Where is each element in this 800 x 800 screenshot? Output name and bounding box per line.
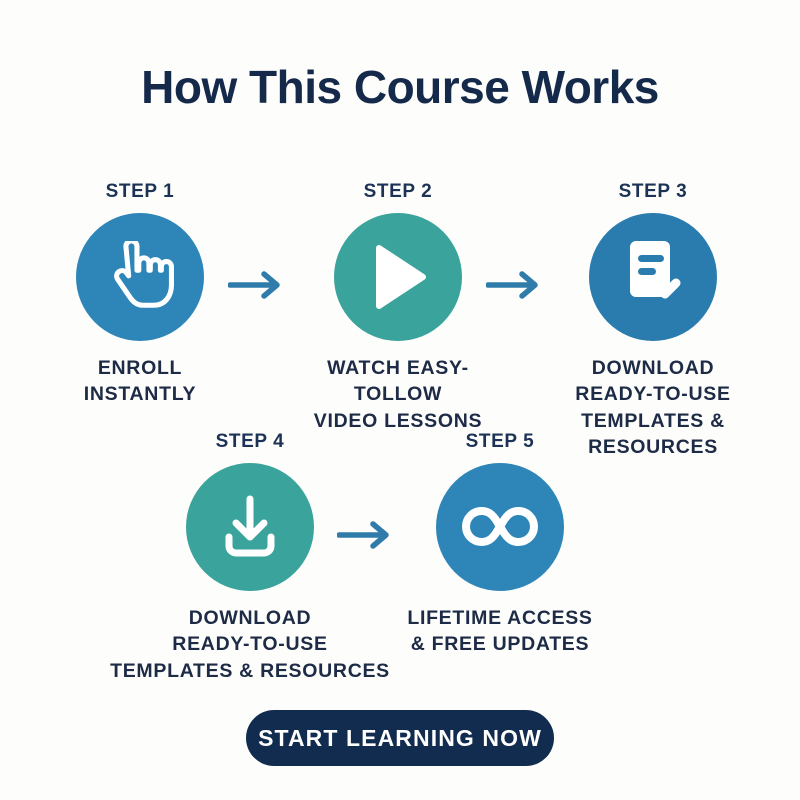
start-learning-now-button[interactable]: START LEARNING NOW (246, 710, 554, 766)
step-card-2: STEP 2 WATCH EASY-TOLLOW VIDEO LESSONS (293, 182, 503, 434)
step-5-caption: LIFETIME ACCESS & FREE UPDATES (375, 605, 625, 658)
document-download-icon (618, 239, 688, 315)
arrow-step1-to-step2 (228, 268, 288, 307)
step-1-icon-circle (76, 213, 204, 341)
step-5-label: STEP 5 (395, 432, 605, 451)
step-card-3: STEP 3 DOWNLOAD READY-TO-USE TEMPLATES &… (548, 182, 758, 460)
step-5-icon-circle (436, 463, 564, 591)
step-2-caption: WATCH EASY-TOLLOW VIDEO LESSONS (293, 355, 503, 434)
step-2-icon-circle (334, 213, 462, 341)
infographic-canvas: How This Course Works STEP 1 ENROLL INST… (0, 0, 800, 800)
step-card-1: STEP 1 ENROLL INSTANTLY (35, 182, 245, 408)
arrow-step2-to-step3 (486, 268, 546, 307)
step-2-label: STEP 2 (293, 182, 503, 201)
step-4-caption: DOWNLOAD READY-TO-USE TEMPLATES & RESOUR… (110, 605, 390, 684)
step-4-label: STEP 4 (145, 432, 355, 451)
download-tray-icon (217, 494, 283, 560)
infinity-icon (461, 505, 539, 549)
play-triangle-icon (365, 242, 431, 312)
step-1-caption: ENROLL INSTANTLY (35, 355, 245, 408)
step-4-icon-circle (186, 463, 314, 591)
step-3-icon-circle (589, 213, 717, 341)
step-card-4: STEP 4 DOWNLOAD READY-TO-USE TEMPLATES &… (145, 432, 355, 684)
arrow-step4-to-step5 (337, 518, 397, 557)
step-3-label: STEP 3 (548, 182, 758, 201)
page-title: How This Course Works (0, 62, 800, 113)
step-card-5: STEP 5 LIFETIME ACCESS & FREE UPDATES (395, 432, 605, 658)
step-1-label: STEP 1 (35, 182, 245, 201)
pointing-hand-icon (106, 241, 174, 313)
